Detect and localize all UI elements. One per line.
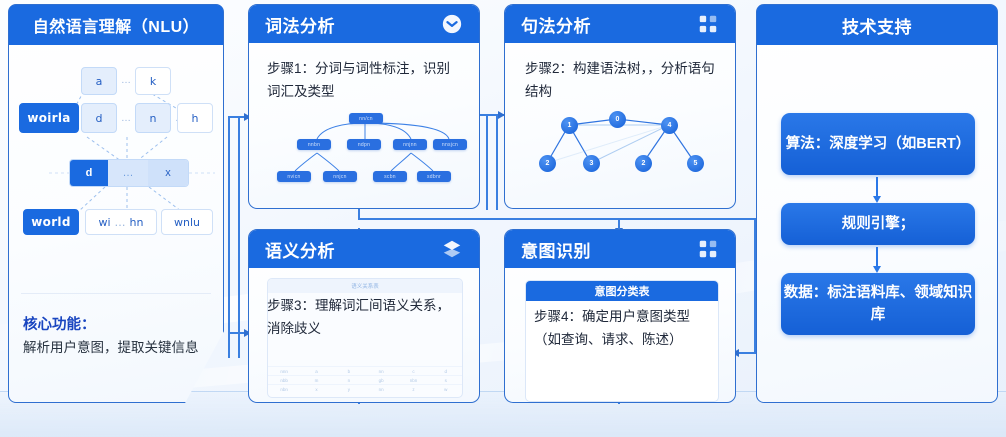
graph-node: 1 [561, 117, 578, 134]
word-cell: wnlu [161, 209, 213, 235]
table-row: nnnabnncd [268, 366, 462, 375]
panel-semantic-analysis: 语义分析 语义关系表 nnnabnncd nbbmngbnbns nbnxynn… [248, 229, 480, 403]
word-cell: h [177, 103, 213, 133]
word-segment-cell: d [70, 160, 108, 186]
tree-node: nnsjcn [433, 139, 467, 150]
connector-syn-riser [496, 114, 498, 210]
panel-lexical-title: 词法分析 [265, 12, 335, 37]
semantic-table-rows: nnnabnncd nbbmngbnbns nbnxynnzw [268, 366, 462, 393]
word-cell: k [135, 67, 171, 95]
word-segment-cell: x [148, 160, 188, 186]
ellipsis: … [121, 113, 131, 124]
word-graph-figure: a … k woirla d … n … h d … x world wi … … [9, 53, 225, 243]
panel-intent-header: 意图识别 [505, 230, 735, 268]
graph-node: 2 [539, 155, 556, 172]
node-network-figure: 1 0 4 2 3 2 5 [517, 107, 727, 201]
tech-block-data: 数据：标注语料库、领域知识库 [781, 273, 975, 335]
blocks-grid-icon [697, 13, 719, 35]
tech-arrow-down-icon [876, 247, 878, 267]
panel-semantic-title: 语义分析 [265, 237, 335, 262]
tree-node: nnbn [297, 139, 331, 150]
tech-arrow-down-icon [876, 177, 878, 197]
ellipsis: … [121, 75, 131, 86]
tech-block-algorithm: 算法：深度学习（如BERT） [781, 113, 975, 175]
word-cell-text: hn [130, 216, 144, 229]
word-segment-cell: … [108, 160, 148, 186]
step-text-intent: 步骤4：确定用户意图类型（如查询、请求、陈述） [526, 301, 718, 351]
table-row: nbnxynnzw [268, 384, 462, 393]
step-text-syntax: 步骤2：构建语法树，，分析语句结构 [525, 57, 721, 103]
tree-node: nnjnn [393, 139, 427, 150]
connector-left-bus-inner [238, 116, 240, 358]
step-text-semantic: 步骤3：理解词汇间语义关系，消除歧义 [267, 294, 463, 340]
panel-syntax-analysis: 句法分析 步骤2：构建语法树，，分析语句结构 [504, 4, 736, 209]
panel-nlu-title: 自然语言理解（NLU） [33, 13, 199, 37]
tree-node: nvicn [277, 171, 311, 182]
panel-semantic-header: 语义分析 [249, 230, 479, 268]
step-text-lexical: 步骤1：分词与词性标注，识别词汇及类型 [267, 57, 463, 103]
word-cell-highlight: world [23, 209, 79, 235]
panel-syntax-title: 句法分析 [521, 12, 591, 37]
graph-node: 2 [635, 155, 652, 172]
table-row: nbbmngbnbns [268, 375, 462, 384]
graph-node: 4 [661, 117, 678, 134]
panel-nlu: 自然语言理解（NLU） a … [8, 4, 224, 403]
tree-node: scbn [373, 171, 407, 182]
word-cell: wi … hn [85, 209, 157, 235]
panel-lexical-analysis: 词法分析 步骤1：分词与词性标注，识别词汇及类型 nn/ [248, 4, 480, 209]
tech-block-rule-engine: 规则引擎； [781, 203, 975, 245]
core-function-label: 核心功能： [23, 313, 96, 334]
connector-lex-riser [486, 114, 488, 210]
graph-node: 3 [583, 155, 600, 172]
circle-chevron-icon [441, 13, 463, 35]
core-function-text: 解析用户意图，提取关键信息 [23, 337, 213, 359]
blocks-grid-icon [697, 238, 719, 260]
tree-node: sdbnr [417, 171, 451, 182]
word-cell: d [81, 103, 117, 133]
word-cell: n [135, 103, 171, 133]
syntax-tree-figure: nn/cn nnbn ndpn nnjnn nnsjcn nvicn nnjcn… [259, 109, 471, 201]
panel-tech-support: 技术支持 算法：深度学习（如BERT） 规则引擎； 数据：标注语料库、领域知识库 [756, 4, 998, 403]
panel-tech-header: 技术支持 [757, 5, 997, 45]
panel-nlu-header: 自然语言理解（NLU） [9, 5, 223, 45]
word-segment-row: d … x [69, 159, 189, 187]
panel-lexical-header: 词法分析 [249, 5, 479, 43]
panel-tech-title: 技术支持 [842, 13, 912, 38]
layers-stack-icon [441, 238, 463, 260]
intent-classification-table: 意图分类表 步骤4：确定用户意图类型（如查询、请求、陈述） [525, 280, 719, 402]
graph-node: 5 [687, 155, 704, 172]
semantic-table-caption: 语义关系表 [268, 279, 462, 293]
tree-node: nn/cn [349, 113, 383, 124]
word-cell-text: wi [98, 216, 110, 229]
intent-table-header: 意图分类表 [526, 281, 718, 301]
panel-syntax-header: 句法分析 [505, 5, 735, 43]
tree-node: nnjcn [323, 171, 357, 182]
divider [21, 293, 211, 294]
tree-node: ndpn [347, 139, 381, 150]
graph-node: 0 [609, 111, 626, 128]
ellipsis: … [115, 216, 126, 229]
connector-intent-to-tech [736, 352, 756, 354]
panel-intent-title: 意图识别 [521, 237, 591, 262]
word-cell: a [81, 67, 117, 95]
panel-intent-recognition: 意图识别 意图分类表 步骤4：确定用户意图类型（如查询、请求、陈述） [504, 229, 736, 403]
connector-left-bus-outer [228, 116, 230, 358]
word-cell-highlight: woirla [19, 103, 79, 133]
